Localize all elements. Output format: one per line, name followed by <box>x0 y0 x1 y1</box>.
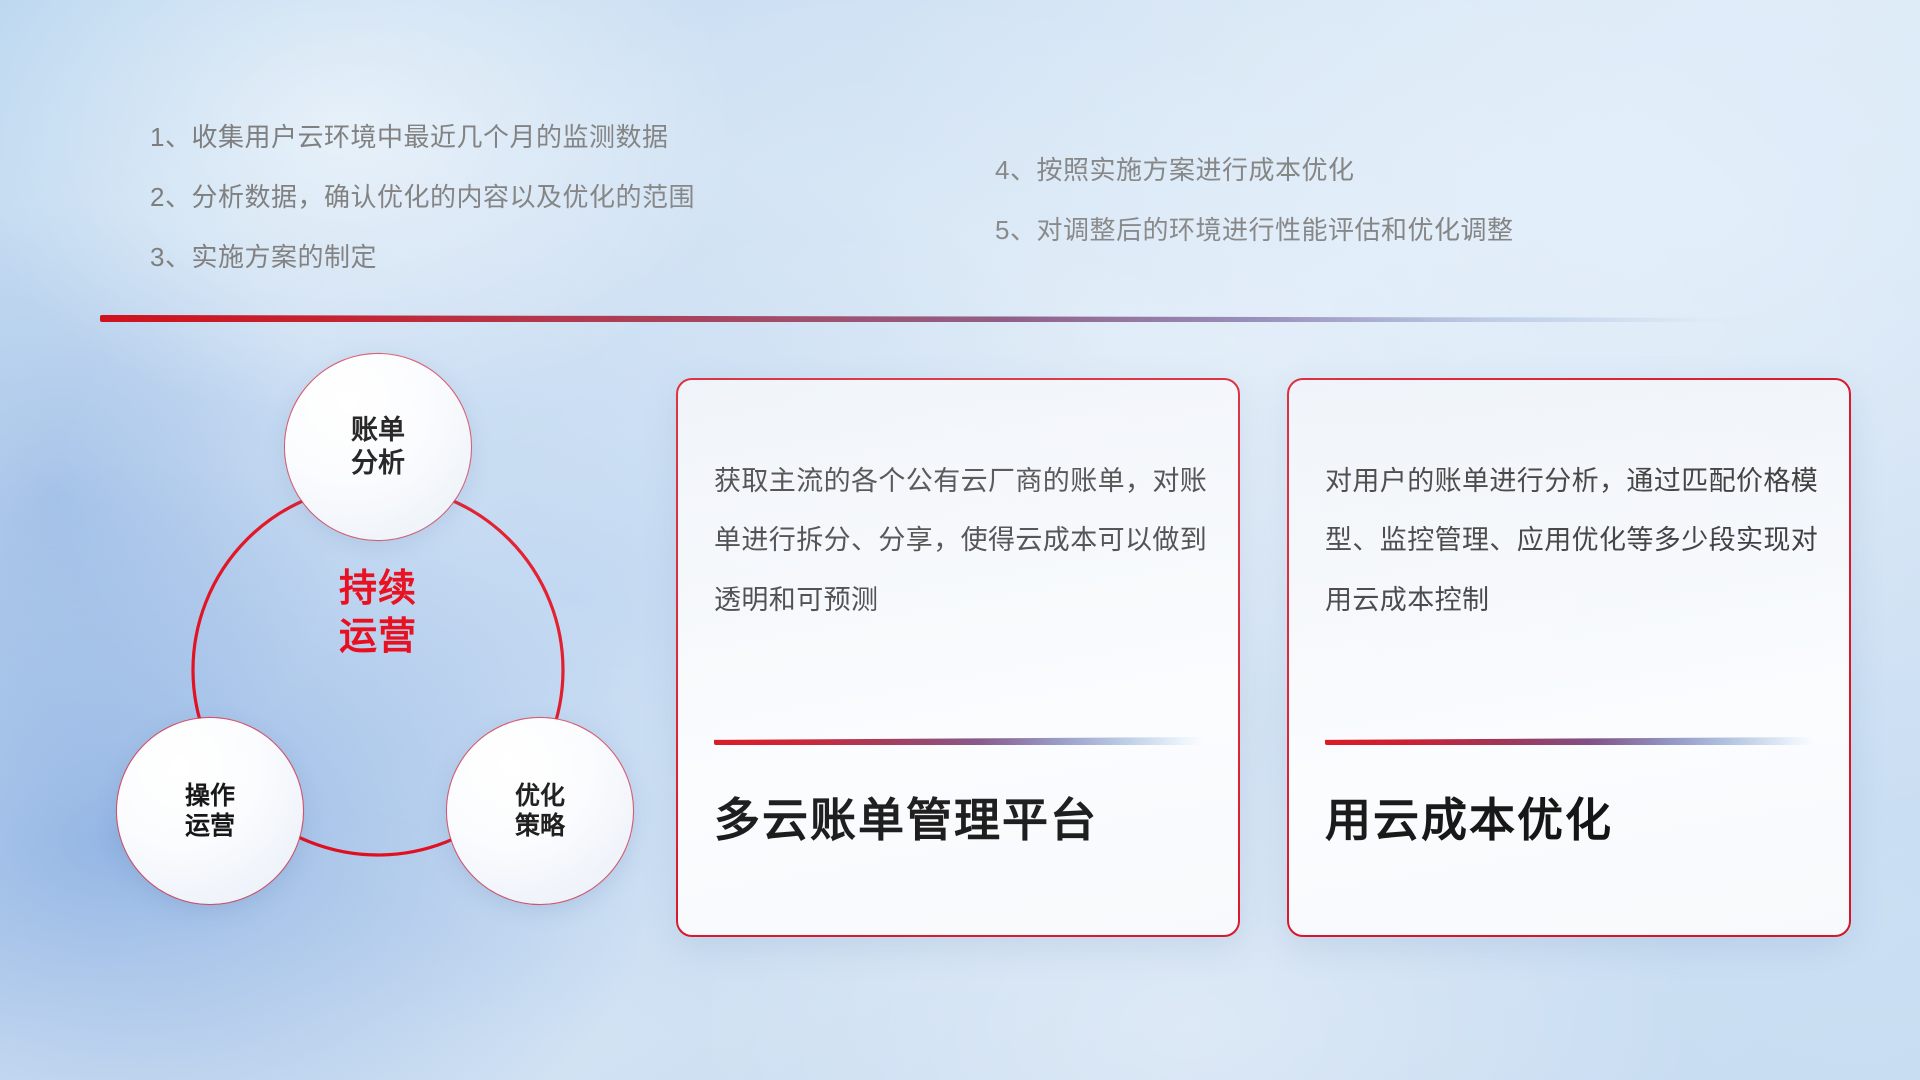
feature-card-title: 多云账单管理平台 <box>714 784 1210 850</box>
venn-bubble-label-line1: 优化 <box>515 781 565 812</box>
venn-center-label: 持续 运营 <box>285 566 471 662</box>
venn-center-label-line1: 持续 <box>285 566 471 614</box>
step-item-2: 2、分析数据，确认优化的内容以及优化的范围 <box>150 184 695 210</box>
venn-bubble-label-line1: 操作 <box>185 781 235 812</box>
venn-diagram: 账单 分析 操作 运营 优化 策略 持续 运营 <box>95 350 665 950</box>
venn-bubble-label-line1: 账单 <box>351 414 405 447</box>
section-divider-rule <box>100 315 1840 322</box>
venn-bubble-operation-ops[interactable]: 操作 运营 <box>117 718 303 904</box>
feature-card-title: 用云成本优化 <box>1325 784 1821 850</box>
steps-list-left: 1、收集用户云环境中最近几个月的监测数据 2、分析数据，确认优化的内容以及优化的… <box>150 124 695 270</box>
venn-center-label-line2: 运营 <box>285 614 471 662</box>
steps-list-right: 4、按照实施方案进行成本优化 5、对调整后的环境进行性能评估和优化调整 <box>995 157 1513 243</box>
venn-bubble-bill-analysis[interactable]: 账单 分析 <box>285 354 471 540</box>
feature-card-cloud-cost-optimization[interactable]: 对用户的账单进行分析，通过匹配价格模型、监控管理、应用优化等多少段实现对用云成本… <box>1287 378 1851 937</box>
step-item-5: 5、对调整后的环境进行性能评估和优化调整 <box>995 217 1513 243</box>
venn-bubble-label-line2: 运营 <box>185 811 235 842</box>
step-item-3: 3、实施方案的制定 <box>150 244 695 270</box>
venn-bubble-label-line2: 分析 <box>351 447 405 480</box>
feature-card-body: 获取主流的各个公有云厂商的账单，对账单进行拆分、分享，使得云成本可以做到透明和可… <box>714 452 1210 630</box>
feature-card-divider <box>714 737 1202 745</box>
venn-bubble-optimization-policy[interactable]: 优化 策略 <box>447 718 633 904</box>
feature-card-divider <box>1325 737 1813 745</box>
step-item-4: 4、按照实施方案进行成本优化 <box>995 157 1513 183</box>
venn-bubble-label-line2: 策略 <box>515 811 565 842</box>
feature-card-multi-cloud-bill-platform[interactable]: 获取主流的各个公有云厂商的账单，对账单进行拆分、分享，使得云成本可以做到透明和可… <box>676 378 1240 937</box>
slide-canvas: 1、收集用户云环境中最近几个月的监测数据 2、分析数据，确认优化的内容以及优化的… <box>0 0 1920 1080</box>
step-item-1: 1、收集用户云环境中最近几个月的监测数据 <box>150 124 695 150</box>
feature-card-body: 对用户的账单进行分析，通过匹配价格模型、监控管理、应用优化等多少段实现对用云成本… <box>1325 452 1821 630</box>
